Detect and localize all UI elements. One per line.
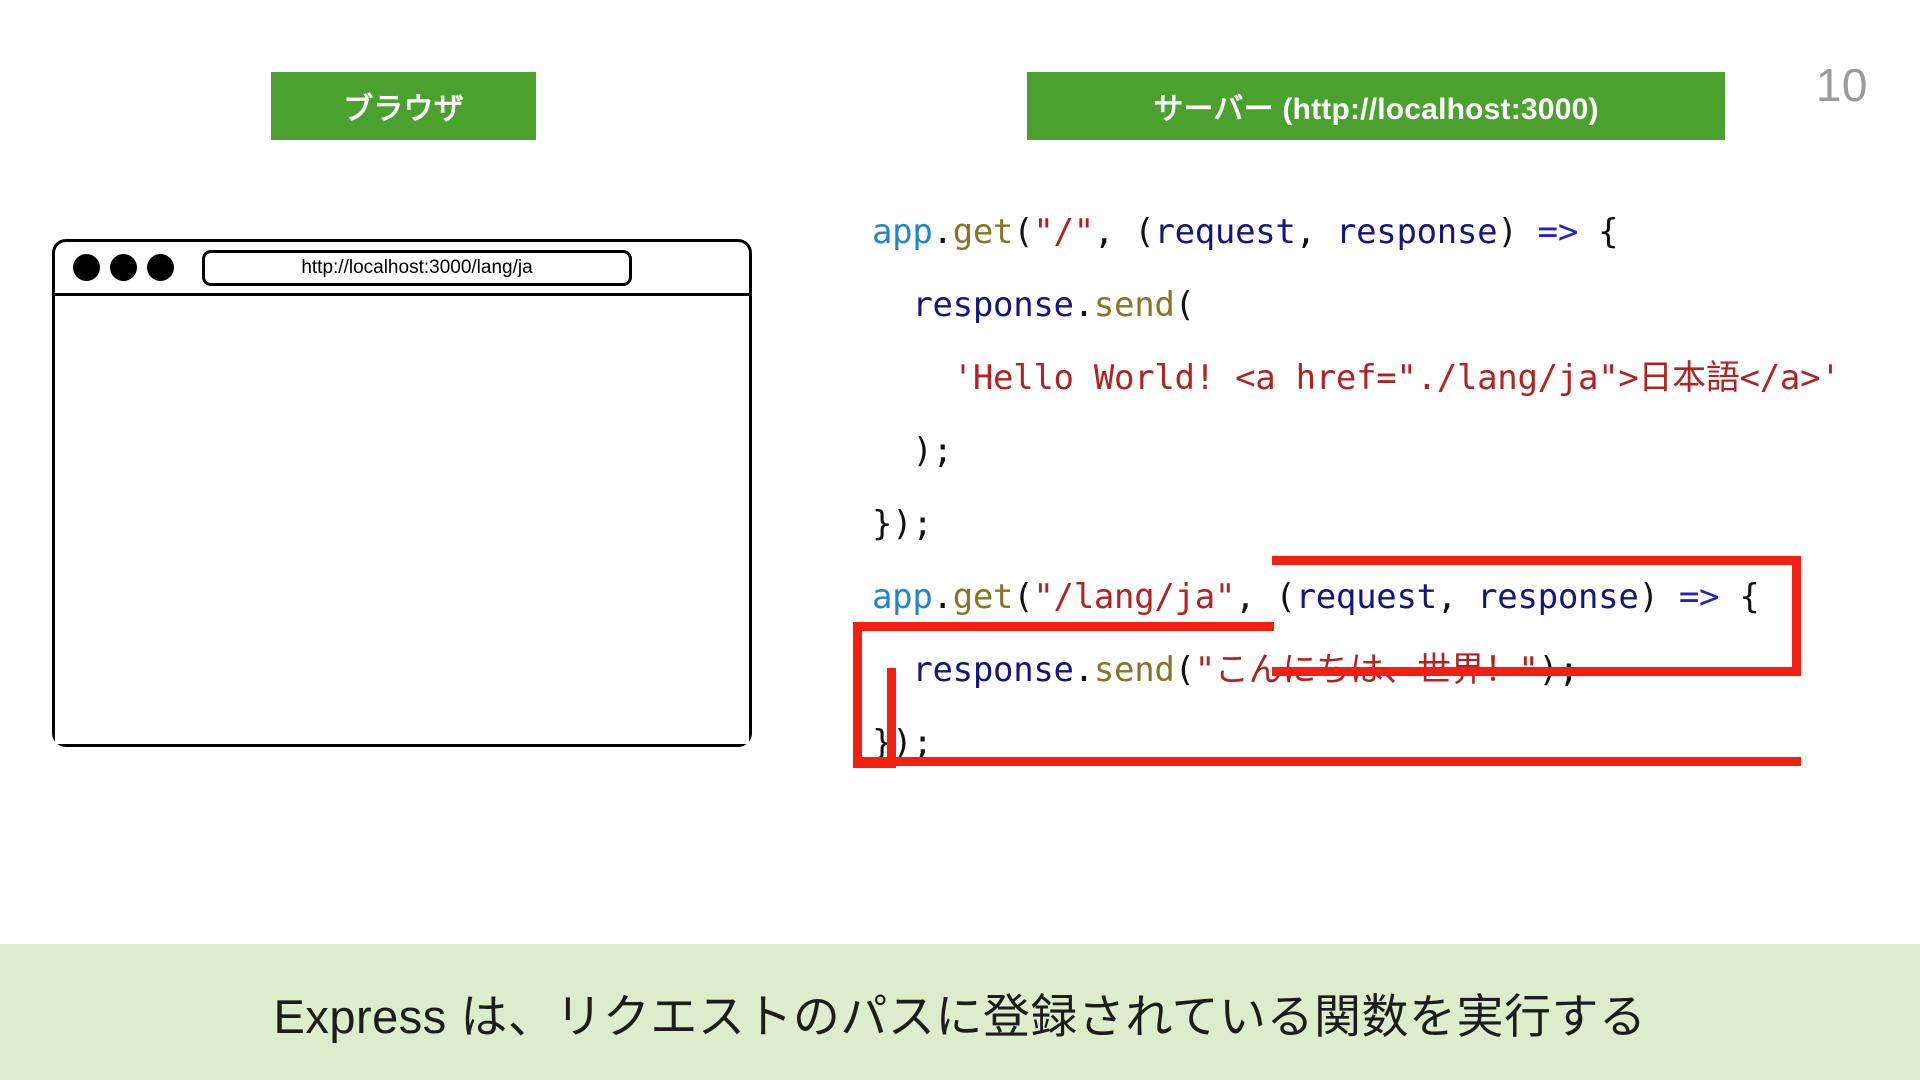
code-line: ); xyxy=(872,415,1840,488)
code-token: , ( xyxy=(1094,212,1155,252)
code-line: app.get("/", (request, response) => { xyxy=(872,196,1840,269)
code-token: , xyxy=(1296,212,1336,252)
code-line: 'Hello World! <a href="./lang/ja">日本語</a… xyxy=(872,342,1840,415)
code-token: . xyxy=(1074,285,1094,325)
window-maximize-dot-icon[interactable] xyxy=(147,254,174,281)
code-token: get xyxy=(953,577,1014,617)
url-bar[interactable]: http://localhost:3000/lang/ja xyxy=(202,250,632,286)
code-token: request xyxy=(1154,212,1295,252)
highlight-box-tail xyxy=(853,668,896,768)
code-token: { xyxy=(1578,212,1618,252)
highlight-box-lower xyxy=(853,622,1801,766)
slide-number: 10 xyxy=(1816,58,1868,112)
code-token: ( xyxy=(1175,285,1195,325)
code-token: app xyxy=(872,212,933,252)
code-token: "/" xyxy=(1033,212,1094,252)
code-token: get xyxy=(953,212,1014,252)
code-token: response xyxy=(912,285,1073,325)
footer-caption: Express は、リクエストのパスに登録されている関数を実行する xyxy=(274,978,1647,1047)
code-token: , xyxy=(1235,577,1275,617)
code-token xyxy=(872,358,953,398)
code-line: }); xyxy=(872,488,1840,561)
browser-chrome: http://localhost:3000/lang/ja xyxy=(55,242,749,296)
server-banner-label: サーバー (http://localhost:3000) xyxy=(1153,84,1598,128)
code-token: send xyxy=(1094,285,1175,325)
server-banner: サーバー (http://localhost:3000) xyxy=(1027,72,1725,140)
browser-banner: ブラウザ xyxy=(271,72,536,140)
browser-viewport xyxy=(55,296,749,744)
code-token: ); xyxy=(872,431,953,471)
code-token xyxy=(872,285,912,325)
code-token: 'Hello World! <a href="./lang/ja">日本語</a… xyxy=(953,358,1841,398)
footer-bar: Express は、リクエストのパスに登録されている関数を実行する xyxy=(0,944,1920,1080)
code-token: response xyxy=(1336,212,1497,252)
window-close-dot-icon[interactable] xyxy=(73,254,100,281)
window-minimize-dot-icon[interactable] xyxy=(110,254,137,281)
code-token: . xyxy=(933,577,953,617)
code-token: app xyxy=(872,577,933,617)
code-token: ) xyxy=(1497,212,1537,252)
code-token: ( xyxy=(1013,577,1033,617)
code-token: => xyxy=(1538,212,1578,252)
code-token: }); xyxy=(872,504,933,544)
code-line: response.send( xyxy=(872,269,1840,342)
browser-banner-label: ブラウザ xyxy=(343,84,464,128)
url-text: http://localhost:3000/lang/ja xyxy=(301,257,532,279)
browser-window: http://localhost:3000/lang/ja xyxy=(52,239,752,747)
code-token: ( xyxy=(1013,212,1033,252)
code-token: . xyxy=(933,212,953,252)
code-token: "/lang/ja" xyxy=(1033,577,1235,617)
